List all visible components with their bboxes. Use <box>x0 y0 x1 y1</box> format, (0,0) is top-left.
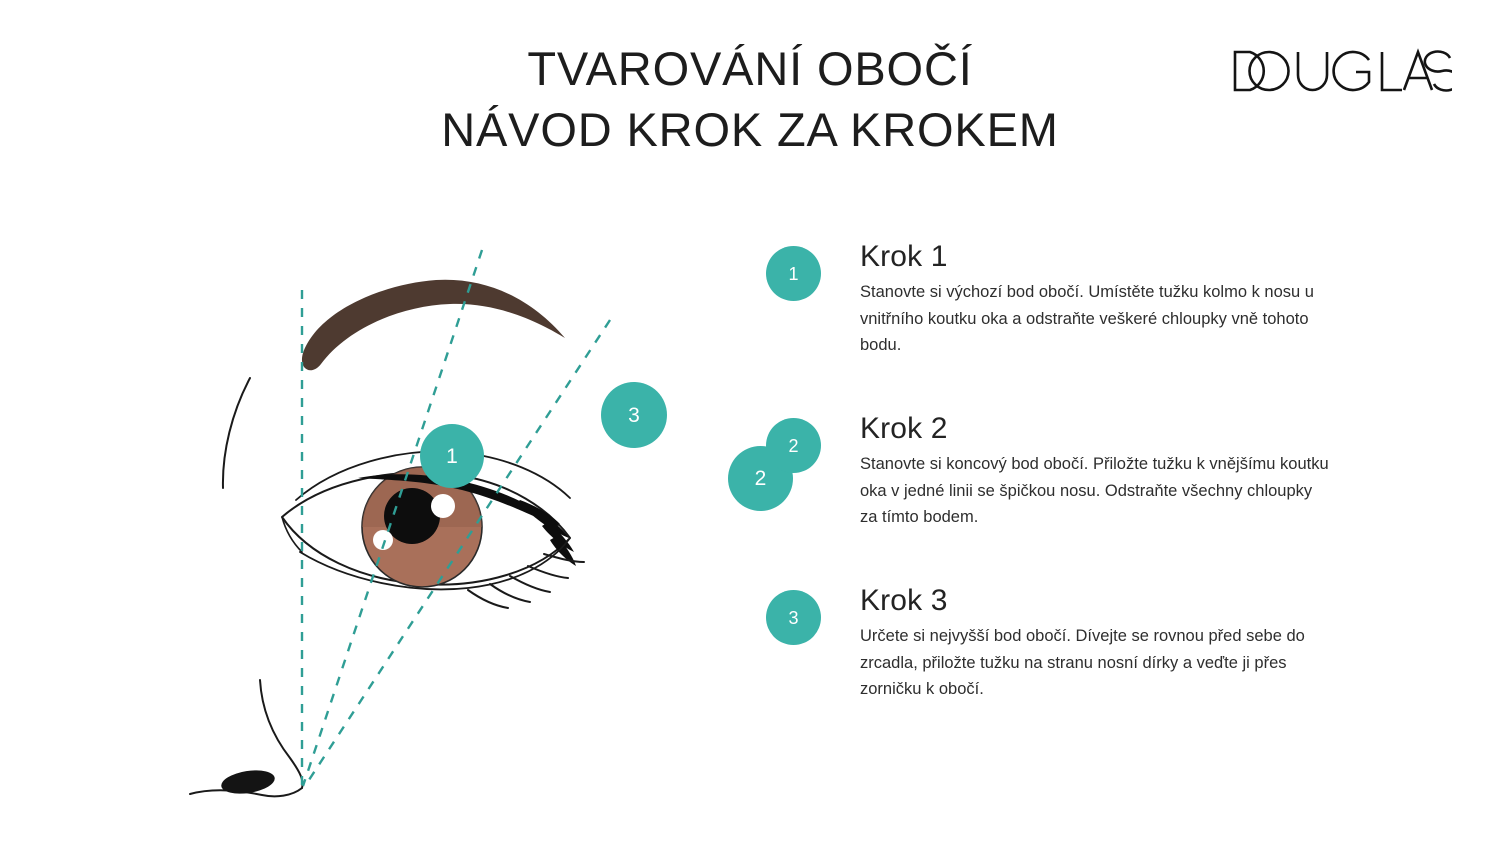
step-badge-2-label: 2 <box>788 437 798 455</box>
step-body-3: Určete si nejvyšší bod obočí. Dívejte se… <box>860 623 1330 703</box>
title-line-2: NÁVOD KROK ZA KROKEM <box>0 99 1500 160</box>
step-item-2: 2 Krok 2 Stanovte si koncový bod obočí. … <box>762 412 1382 532</box>
eye-highlight-large <box>431 494 455 518</box>
eyebrow <box>302 280 565 371</box>
nostril <box>220 767 277 797</box>
header: TVAROVÁNÍ OBOČÍ NÁVOD KROK ZA KROKEM <box>0 0 1500 175</box>
step-body-2: Stanovte si koncový bod obočí. Přiložte … <box>860 451 1330 531</box>
temple-line <box>223 378 250 488</box>
eye-illustration-svg <box>150 180 690 820</box>
step-title-2: Krok 2 <box>860 412 1382 445</box>
pupil <box>384 488 440 544</box>
step-badge-1-label: 1 <box>788 265 798 283</box>
diagram-marker-3-label: 3 <box>628 405 640 426</box>
diagram-marker-3[interactable]: 3 <box>601 382 667 448</box>
douglas-logo <box>1232 44 1452 98</box>
step-title-1: Krok 1 <box>860 240 1382 273</box>
step-badge-3[interactable]: 3 <box>766 590 821 645</box>
step-badge-2[interactable]: 2 <box>766 418 821 473</box>
douglas-logo-icon <box>1232 44 1452 98</box>
eye-illustration: 1 3 2 <box>150 180 690 820</box>
step-badge-1[interactable]: 1 <box>766 246 821 301</box>
step-title-3: Krok 3 <box>860 584 1382 617</box>
step-item-3: 3 Krok 3 Určete si nejvyšší bod obočí. D… <box>762 584 1382 704</box>
step-item-1: 1 Krok 1 Stanovte si výchozí bod obočí. … <box>762 240 1382 360</box>
steps-list: 1 Krok 1 Stanovte si výchozí bod obočí. … <box>762 240 1382 704</box>
diagram-marker-1[interactable]: 1 <box>420 424 484 488</box>
diagram-marker-1-label: 1 <box>446 446 458 467</box>
step-body-1: Stanovte si výchozí bod obočí. Umístěte … <box>860 279 1330 359</box>
step-badge-3-label: 3 <box>788 609 798 627</box>
